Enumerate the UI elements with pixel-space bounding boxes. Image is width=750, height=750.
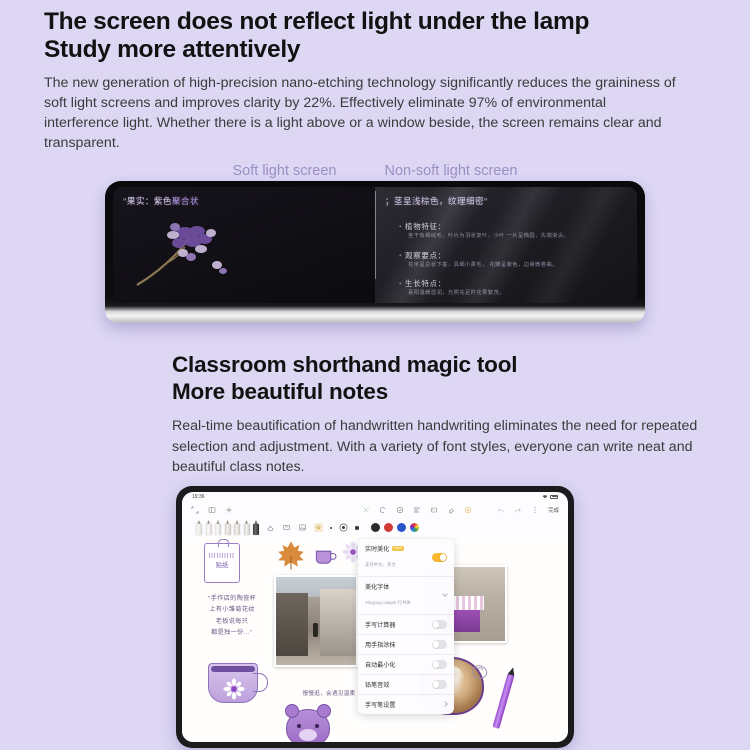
scribble-doodle	[468, 661, 494, 683]
note-toolbar-pens[interactable]	[182, 519, 568, 537]
setting-text-col: 实时美化 New 支持中文、英文	[365, 544, 428, 571]
note-item-heading: 观察要点：	[399, 250, 627, 261]
note-item-heading: 生长特点：	[399, 278, 627, 289]
toggle-handwriting-calculator[interactable]	[432, 620, 447, 628]
stroke-size-medium[interactable]	[339, 523, 348, 532]
stroke-size-small[interactable]	[330, 527, 332, 529]
setting-title: 用手指涂抹	[365, 640, 428, 649]
setting-subtitle: Xingyug Lianpin 行书体	[365, 600, 411, 605]
screen-comparison-labels: Soft light screen Non-soft light screen	[44, 163, 706, 179]
toggle-realtime-beautify[interactable]	[432, 553, 447, 561]
section-shorthand: Classroom shorthand magic tool More beau…	[0, 336, 750, 477]
setting-title-row: 实时美化 New	[365, 544, 428, 553]
heading1-line1: The screen does not reflect light under …	[44, 8, 706, 36]
bear-eye-right	[315, 724, 319, 728]
note-title-right: ；茎呈浅棕色，纹理细密"	[385, 195, 627, 207]
new-badge: New	[392, 546, 403, 551]
color-swatch-black[interactable]	[371, 523, 380, 532]
note-body-list: 植物特征： 茎干有细绒毛，叶片为羽状复叶，小叶 一片呈椭圆，先端渐尖。 观察要点…	[385, 221, 627, 297]
note-title-part-a: "果实：紫色	[123, 196, 172, 206]
section-soft-light: The screen does not reflect light under …	[0, 0, 750, 179]
sticker-tag-lines	[209, 553, 235, 558]
note-item-body: 花序呈总状下垂，具细小柔毛， 花瓣呈紫色，边缘微卷曲。	[399, 261, 627, 269]
chevron-right-icon[interactable]	[442, 702, 448, 708]
street-scene	[276, 577, 356, 665]
setting-title: 实时美化	[365, 544, 389, 553]
note-toolbar-top[interactable]: 完成	[182, 502, 568, 519]
heading1-line2: Study more attentively	[44, 36, 706, 64]
teacup-sticker	[314, 547, 338, 565]
bear-snout	[299, 729, 317, 741]
note-item: 观察要点： 花序呈总状下垂，具细小柔毛， 花瓣呈紫色，边缘微卷曲。	[399, 250, 627, 269]
non-soft-light-pane: ；茎呈浅棕色，纹理细密" 植物特征： 茎干有细绒毛，叶片为羽状复叶，小叶 一片呈…	[375, 187, 637, 303]
bear-ear-right	[317, 704, 331, 718]
street-figure	[313, 623, 318, 637]
undo-icon[interactable]	[497, 506, 505, 514]
undo-shape-icon[interactable]	[379, 506, 387, 514]
image-icon[interactable]	[298, 523, 307, 532]
note-title-left: "果实：紫色聚合状	[123, 195, 365, 207]
setting-row-realtime-beautify[interactable]: 实时美化 New 支持中文、英文	[358, 539, 454, 577]
stroke-size-large[interactable]	[355, 526, 358, 529]
mug-illustration	[208, 663, 258, 703]
heading2-line1: Classroom shorthand magic tool	[172, 352, 706, 378]
mug-daisy-icon	[223, 678, 245, 700]
attach-icon[interactable]	[447, 506, 455, 514]
tablet-device-bottom: 19:36	[176, 486, 574, 748]
stylus-pen-illustration	[492, 673, 514, 729]
pen-tool-marker[interactable]	[215, 520, 221, 535]
color-swatch-red[interactable]	[384, 523, 393, 532]
label-soft-light-screen: Soft light screen	[233, 163, 337, 179]
battery-icon	[550, 495, 558, 499]
note-item: 生长特点： 喜阳温暖湿润，光照充足时花果繁茂。	[399, 278, 627, 297]
insert-icon[interactable]	[430, 506, 438, 514]
setting-row-beautify-font[interactable]: 美化字体 Xingyug Lianpin 行书体	[358, 577, 454, 615]
setting-title: 手写计算器	[365, 620, 428, 629]
toggle-pencil-sound[interactable]	[432, 680, 447, 688]
pen-tool-brush[interactable]	[225, 520, 231, 535]
pen-tool-pencil[interactable]	[196, 520, 202, 535]
eraser-icon[interactable]	[266, 523, 275, 532]
setting-text-col: 手写计算器	[365, 620, 428, 629]
beautify-settings-panel[interactable]: 实时美化 New 支持中文、英文 美化字体 Xingyug Lianpin 行书…	[358, 539, 454, 714]
bear-eye-left	[297, 724, 301, 728]
color-swatch-blue[interactable]	[397, 523, 406, 532]
color-swatch-rainbow[interactable]	[410, 523, 419, 532]
toggle-finger-smudge[interactable]	[432, 640, 447, 648]
setting-subtitle: 支持中文、英文	[365, 562, 396, 567]
page-title: The screen does not reflect light under …	[44, 8, 706, 64]
section2-title: Classroom shorthand magic tool More beau…	[172, 352, 706, 405]
note-item-body: 茎干有细绒毛，叶片为羽状复叶，小叶 一片呈椭圆，先端渐尖。	[399, 232, 627, 240]
setting-text-col: 用手指涂抹	[365, 640, 428, 649]
chevron-down-icon[interactable]	[442, 592, 448, 598]
tablet-device-top: "果实：紫色聚合状	[105, 181, 645, 323]
status-time: 19:36	[192, 494, 205, 500]
pen-tool-ruler[interactable]	[244, 520, 250, 535]
setting-title: 手写笔设置	[365, 700, 439, 709]
wifi-icon	[542, 494, 548, 499]
maple-leaf-sticker	[274, 539, 308, 573]
section1-paragraph: The new generation of high-precision nan…	[44, 73, 684, 154]
plus-icon[interactable]	[225, 506, 233, 514]
setting-title: 铅笔音效	[365, 680, 428, 689]
section2-paragraph: Real-time beautification of handwritten …	[172, 416, 706, 478]
format-icon[interactable]	[413, 506, 421, 514]
text-box-icon[interactable]	[282, 523, 291, 532]
done-button[interactable]: 完成	[548, 506, 559, 514]
pen-tool-highlighter[interactable]	[253, 520, 259, 535]
sidebar-icon[interactable]	[208, 506, 216, 514]
status-indicators	[542, 494, 558, 499]
beautify-icon[interactable]	[464, 506, 472, 514]
setting-row-finger-smudge[interactable]: 用手指涂抹	[358, 635, 454, 655]
soft-light-pane: "果实：紫色聚合状	[113, 187, 375, 303]
wisteria-illustration	[127, 213, 247, 293]
check-circle-icon[interactable]	[396, 506, 404, 514]
expand-icon[interactable]	[191, 506, 199, 514]
label-non-soft-light-screen: Non-soft light screen	[385, 163, 518, 179]
toolbar-right-group[interactable]: 完成	[497, 506, 559, 514]
status-bar: 19:36	[182, 492, 568, 502]
bear-ear-left	[285, 704, 299, 718]
note-item-heading: 植物特征：	[399, 221, 627, 232]
toggle-auto-minimize[interactable]	[432, 660, 447, 668]
pen-tool-fountain-pen[interactable]	[206, 520, 212, 535]
setting-row-handwriting-calculator[interactable]: 手写计算器	[358, 615, 454, 635]
handwriting-block: "手作店的陶瓷杯 上有小雏菊花纹 老板说每只 都是独一份…"	[196, 593, 268, 639]
setting-row-stylus-settings[interactable]: 手写笔设置	[358, 695, 454, 714]
setting-text-col: 手写笔设置	[365, 700, 439, 709]
tablet-top-screen: "果实：紫色聚合状	[113, 187, 637, 303]
note-canvas[interactable]: 贴纸 "手作店的陶瓷杯 上有小雏菊花纹 老板说每只 都是独一份…"	[182, 537, 568, 742]
bear-illustration	[286, 709, 330, 742]
photo-old-street	[274, 575, 358, 667]
pen-tool-eraser[interactable]	[234, 520, 240, 535]
note-item: 植物特征： 茎干有细绒毛，叶片为羽状复叶，小叶 一片呈椭圆，先端渐尖。	[399, 221, 627, 240]
redo-icon[interactable]	[514, 506, 522, 514]
more-icon[interactable]	[531, 506, 539, 514]
note-item-body: 喜阳温暖湿润，光照充足时花果繁茂。	[399, 289, 627, 297]
setting-row-pencil-sound[interactable]: 铅笔音效	[358, 675, 454, 695]
lasso-icon[interactable]	[362, 506, 370, 514]
setting-text-col: 美化字体 Xingyug Lianpin 行书体	[365, 582, 439, 609]
setting-title: 自动最小化	[365, 660, 428, 669]
setting-title: 美化字体	[365, 582, 439, 591]
note-app-screen: 19:36	[182, 492, 568, 742]
tablet-comparison-wrap: "果实：紫色聚合状	[0, 181, 750, 336]
sticker-tag-label: 贴纸	[208, 560, 236, 569]
settings-icon[interactable]	[314, 523, 323, 532]
screen-split-divider	[375, 191, 376, 279]
setting-text-col: 自动最小化	[365, 660, 428, 669]
setting-text-col: 铅笔音效	[365, 680, 428, 689]
setting-row-auto-minimize[interactable]: 自动最小化	[358, 655, 454, 675]
sticker-tag: 贴纸	[204, 543, 240, 583]
heading2-line2: More beautiful notes	[172, 379, 706, 405]
note-title-highlight: 聚合状	[172, 196, 199, 206]
toolbar-center-group[interactable]	[362, 506, 472, 514]
